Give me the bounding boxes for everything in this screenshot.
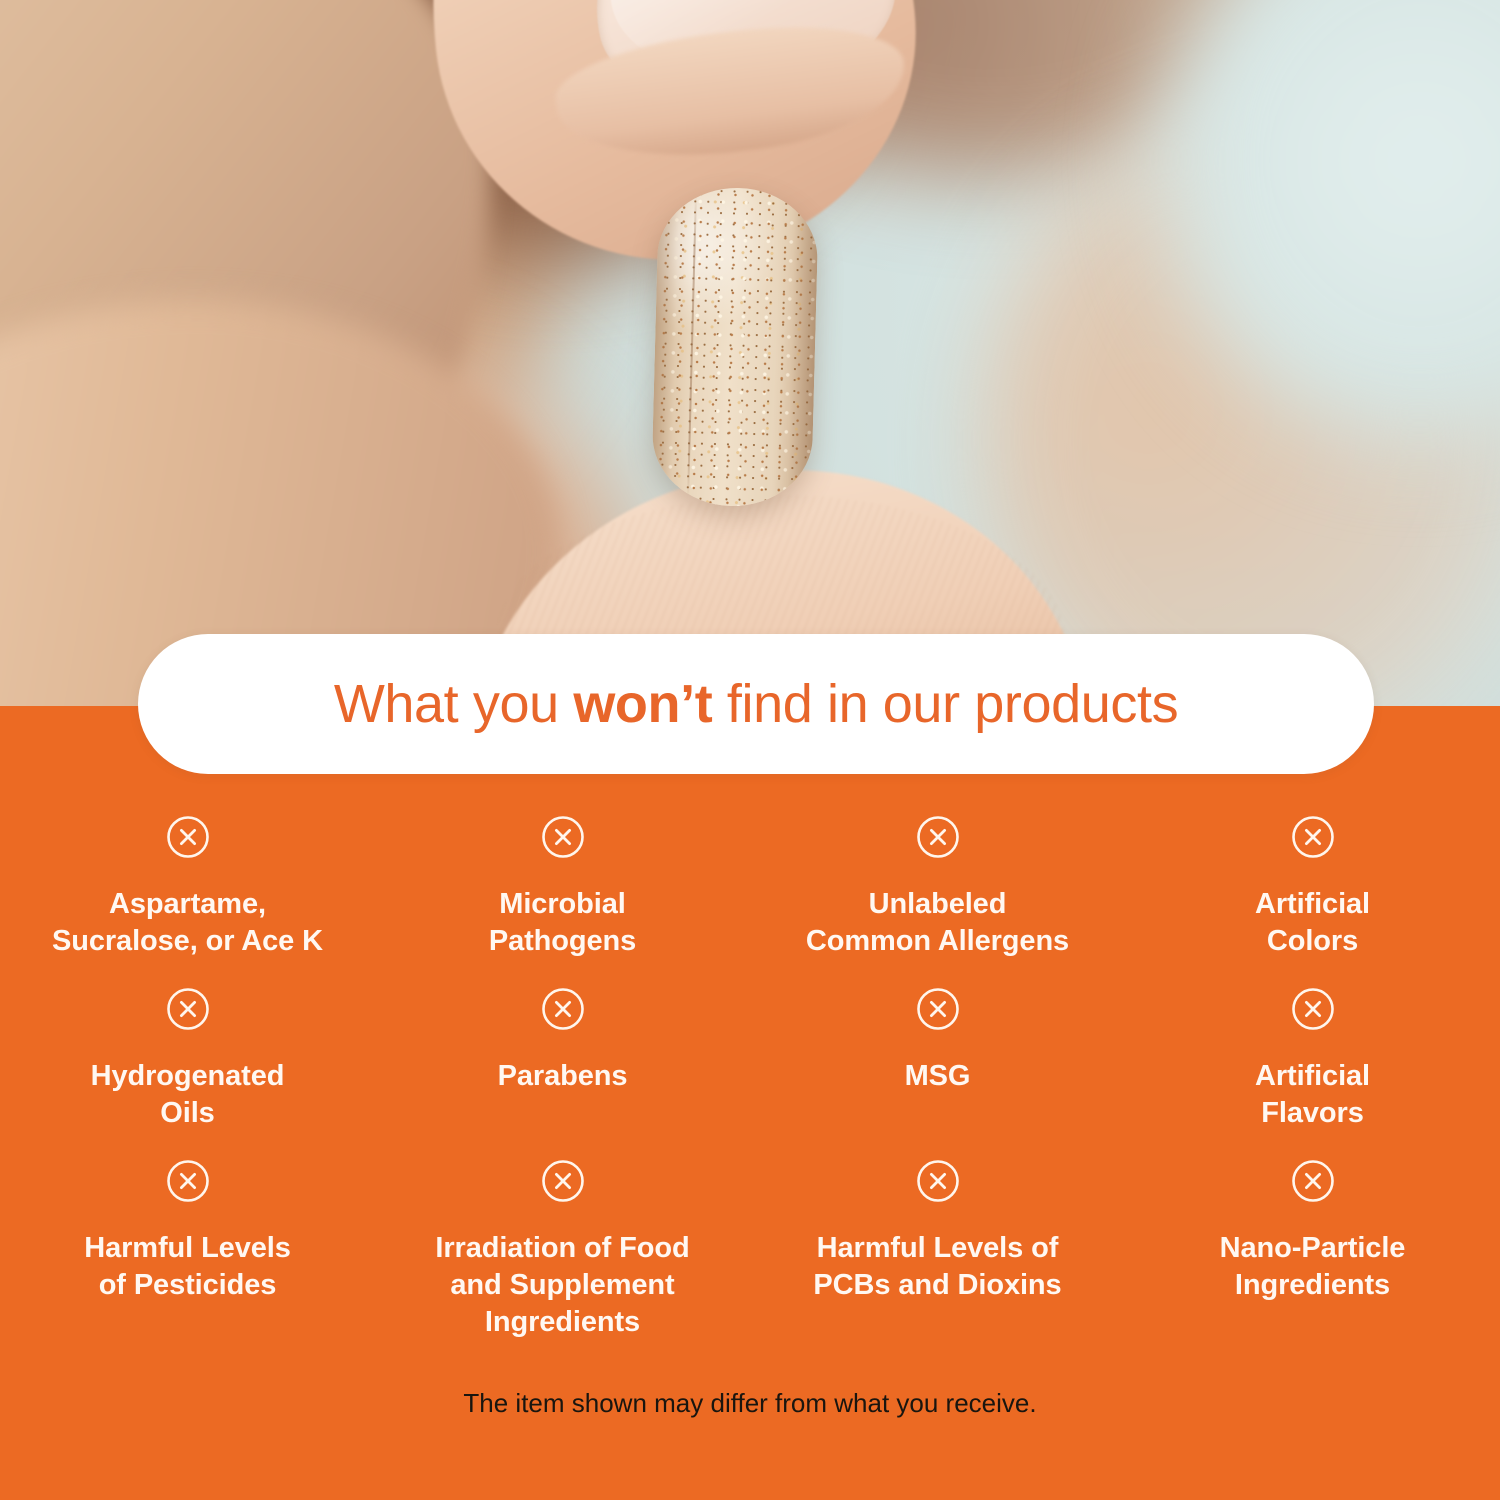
exclusion-label: Aspartame,Sucralose, or Ace K [52, 886, 323, 960]
circle-x-icon [540, 986, 586, 1032]
exclusion-label: UnlabeledCommon Allergens [806, 886, 1069, 960]
circle-x-icon [915, 986, 961, 1032]
headline-suffix: find in our products [712, 674, 1178, 734]
exclusion-item: Nano-ParticleIngredients [1125, 1158, 1500, 1338]
tablet-right-rim [771, 189, 819, 508]
circle-x-icon [165, 814, 211, 860]
exclusion-item: HydrogenatedOils [0, 986, 375, 1158]
circle-x-icon [1290, 814, 1336, 860]
circle-x-icon [165, 986, 211, 1032]
exclusion-item: ArtificialFlavors [1125, 986, 1500, 1158]
headline-emphasis: won’t [573, 674, 712, 734]
exclusion-label: Irradiation of Foodand SupplementIngredi… [435, 1230, 689, 1341]
exclusions-panel: Aspartame,Sucralose, or Ace K MicrobialP… [0, 706, 1500, 1500]
circle-x-icon [165, 1158, 211, 1204]
circle-x-icon [1290, 986, 1336, 1032]
exclusion-label: ArtificialFlavors [1255, 1058, 1370, 1132]
exclusion-item: Aspartame,Sucralose, or Ace K [0, 814, 375, 986]
exclusion-item: Harmful Levels ofPCBs and Dioxins [750, 1158, 1125, 1338]
circle-x-icon [915, 1158, 961, 1204]
exclusion-label: HydrogenatedOils [91, 1058, 285, 1132]
exclusion-item: ArtificialColors [1125, 814, 1500, 986]
page-title: What you won’t find in our products [334, 673, 1178, 735]
exclusions-grid: Aspartame,Sucralose, or Ace K MicrobialP… [0, 814, 1500, 1338]
exclusion-item: Harmful Levelsof Pesticides [0, 1158, 375, 1338]
headline-card: What you won’t find in our products [138, 634, 1374, 774]
circle-x-icon [915, 814, 961, 860]
exclusion-item: UnlabeledCommon Allergens [750, 814, 1125, 986]
exclusion-label: Nano-ParticleIngredients [1220, 1230, 1406, 1304]
circle-x-icon [540, 814, 586, 860]
exclusion-label: Harmful Levels ofPCBs and Dioxins [813, 1230, 1061, 1304]
headline-prefix: What you [334, 674, 574, 734]
footnote: The item shown may differ from what you … [0, 1388, 1500, 1419]
exclusion-label: Parabens [498, 1058, 628, 1095]
exclusion-label: MicrobialPathogens [489, 886, 636, 960]
exclusion-label: Harmful Levelsof Pesticides [84, 1230, 291, 1304]
exclusion-item: Irradiation of Foodand SupplementIngredi… [375, 1158, 750, 1338]
exclusion-label: ArtificialColors [1255, 886, 1370, 960]
exclusion-item: MicrobialPathogens [375, 814, 750, 986]
exclusion-item: MSG [750, 986, 1125, 1158]
circle-x-icon [540, 1158, 586, 1204]
exclusion-item: Parabens [375, 986, 750, 1158]
circle-x-icon [1290, 1158, 1336, 1204]
exclusion-label: MSG [905, 1058, 971, 1095]
supplement-tablet [651, 186, 819, 508]
infographic-canvas: What you won’t find in our products Aspa… [0, 0, 1500, 1500]
product-photo [0, 0, 1500, 706]
